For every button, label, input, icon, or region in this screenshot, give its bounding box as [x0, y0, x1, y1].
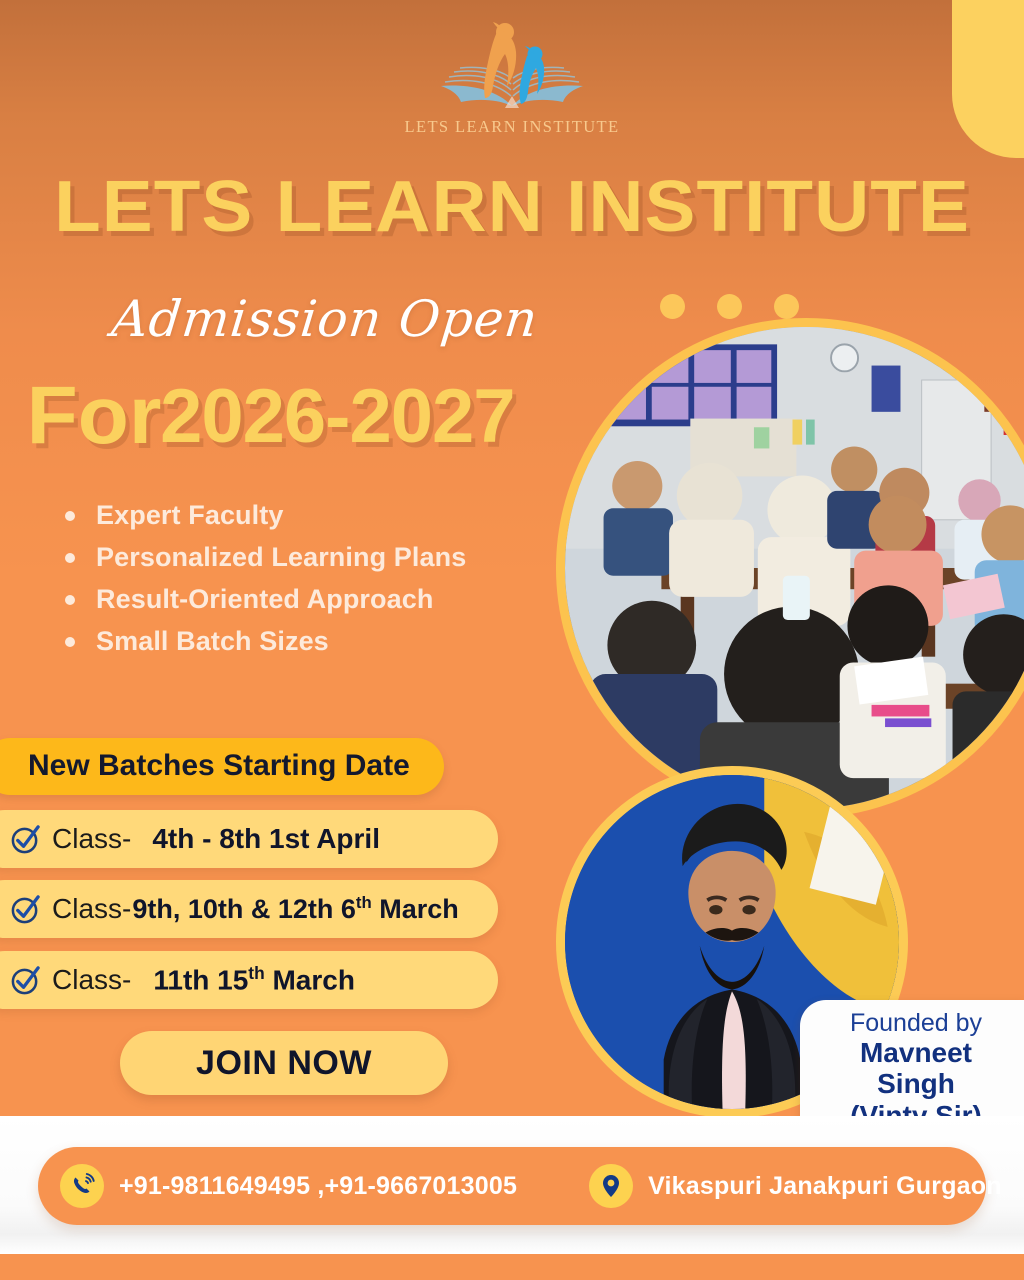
- class-date-pre: 11th 15: [153, 965, 248, 996]
- feature-label: Expert Faculty: [96, 500, 283, 530]
- dot-icon: [717, 294, 742, 319]
- logo-caption: LETS LEARN INSTITUTE: [405, 117, 620, 137]
- class-date-value: 9th, 10th & 12th 6th March: [132, 893, 458, 925]
- class-label: Class-: [52, 893, 131, 925]
- admission-open-script: Admission Open: [109, 290, 541, 348]
- contact-bar: +91-9811649495 ,+91-9667013005 Vikaspuri…: [38, 1147, 986, 1225]
- session-line: For 2026-2027: [28, 378, 515, 453]
- list-item: Expert Faculty: [62, 500, 466, 531]
- dot-icon: [660, 294, 685, 319]
- list-item: Small Batch Sizes: [62, 626, 466, 657]
- phone-ringing-icon: [60, 1164, 104, 1208]
- feature-label: Result-Oriented Approach: [96, 584, 433, 614]
- bullet-dot-icon: [65, 553, 75, 563]
- batches-heading: New Batches Starting Date: [0, 738, 444, 795]
- for-word: For: [27, 378, 162, 453]
- batch-row-class-11: Class- 11th 15th March: [0, 951, 498, 1009]
- ordinal-suffix: th: [356, 893, 372, 912]
- batch-row-class-4-8: Class- 4th - 8th 1st April: [0, 810, 498, 868]
- feature-label: Personalized Learning Plans: [96, 542, 466, 572]
- class-date-value: 11th 15th March: [153, 963, 355, 996]
- class-date-post: March: [372, 894, 459, 924]
- list-item: Personalized Learning Plans: [62, 542, 466, 573]
- founded-by-label: Founded by: [826, 1009, 1006, 1037]
- check-circle-icon: [10, 824, 41, 855]
- bullet-dot-icon: [65, 511, 75, 521]
- ordinal-suffix: th: [248, 963, 264, 983]
- contact-phone[interactable]: +91-9811649495 ,+91-9667013005: [60, 1164, 517, 1208]
- check-circle-icon: [10, 965, 41, 996]
- decorative-dots: [660, 294, 799, 319]
- bullet-dot-icon: [65, 595, 75, 605]
- class-label: Class-: [52, 964, 131, 996]
- features-list: Expert Faculty Personalized Learning Pla…: [62, 500, 466, 668]
- phone-number: +91-9811649495 ,+91-9667013005: [119, 1172, 517, 1201]
- class-date-value: 4th - 8th 1st April: [152, 823, 380, 855]
- classroom-photo: [556, 318, 1024, 818]
- join-now-button[interactable]: JOIN NOW: [120, 1031, 448, 1095]
- map-pin-icon: [589, 1164, 633, 1208]
- location-text: Vikaspuri Janakpuri Gurgaon: [648, 1172, 1002, 1201]
- class-label: Class-: [52, 823, 131, 855]
- contact-location[interactable]: Vikaspuri Janakpuri Gurgaon: [589, 1164, 1002, 1208]
- classroom-students-studying-image: [565, 327, 1024, 809]
- founder-name: Mavneet Singh: [826, 1037, 1006, 1100]
- check-circle-icon: [10, 894, 41, 925]
- session-years: 2026-2027: [160, 381, 514, 453]
- open-book-with-figures-logo-icon: [425, 18, 600, 123]
- feature-label: Small Batch Sizes: [96, 626, 329, 656]
- batch-row-class-9-10-12: Class- 9th, 10th & 12th 6th March: [0, 880, 498, 938]
- class-date-pre: 9th, 10th & 12th 6: [132, 894, 356, 924]
- brand-logo: LETS LEARN INSTITUTE: [0, 18, 1024, 137]
- list-item: Result-Oriented Approach: [62, 584, 466, 615]
- poster-canvas: LETS LEARN INSTITUTE LETS LEARN INSTITUT…: [0, 0, 1024, 1280]
- dot-icon: [774, 294, 799, 319]
- class-date-post: March: [265, 965, 355, 996]
- bullet-dot-icon: [65, 637, 75, 647]
- page-title: LETS LEARN INSTITUTE: [0, 166, 1024, 248]
